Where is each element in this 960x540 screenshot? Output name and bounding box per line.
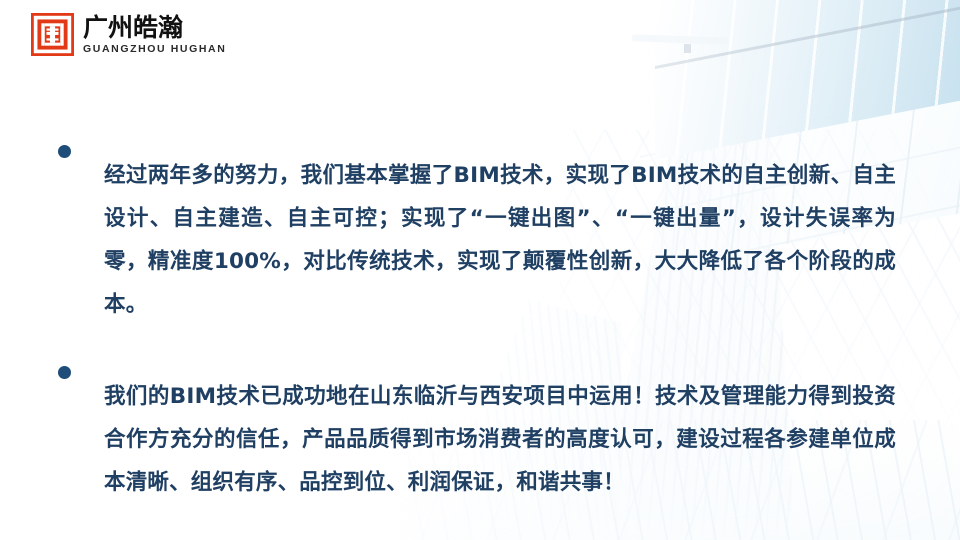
bullet-paragraph-2: 我们的BIM技术已成功地在山东临沂与西安项目中运用！技术及管理能力得到投资合作方…	[104, 375, 896, 504]
logo-wordmark: 广州皓瀚 GUANGZHOU HUGHAN	[83, 15, 226, 55]
company-logo: 广州皓瀚 GUANGZHOU HUGHAN	[31, 13, 226, 56]
presentation-slide: 广州皓瀚 GUANGZHOU HUGHAN 经过两年多的努力，我们基本掌握了BI…	[0, 0, 960, 540]
hughan-seal-logo-icon	[31, 13, 74, 56]
logo-company-name-en: GUANGZHOU HUGHAN	[83, 44, 226, 55]
bullet-paragraph-1: 经过两年多的努力，我们基本掌握了BIM技术，实现了BIM技术的自主创新、自主设计…	[104, 154, 896, 326]
crane-counterweight	[684, 44, 691, 53]
bullet-dot-icon	[58, 145, 71, 158]
slide-body-content: 经过两年多的努力，我们基本掌握了BIM技术，实现了BIM技术的自主创新、自主设计…	[58, 132, 896, 525]
construction-crane	[632, 34, 728, 44]
bullet-item: 我们的BIM技术已成功地在山东临沂与西安项目中运用！技术及管理能力得到投资合作方…	[58, 353, 896, 525]
bullet-dot-icon	[58, 366, 71, 379]
bullet-item: 经过两年多的努力，我们基本掌握了BIM技术，实现了BIM技术的自主创新、自主设计…	[58, 132, 896, 347]
logo-company-name-cn: 广州皓瀚	[83, 15, 226, 40]
